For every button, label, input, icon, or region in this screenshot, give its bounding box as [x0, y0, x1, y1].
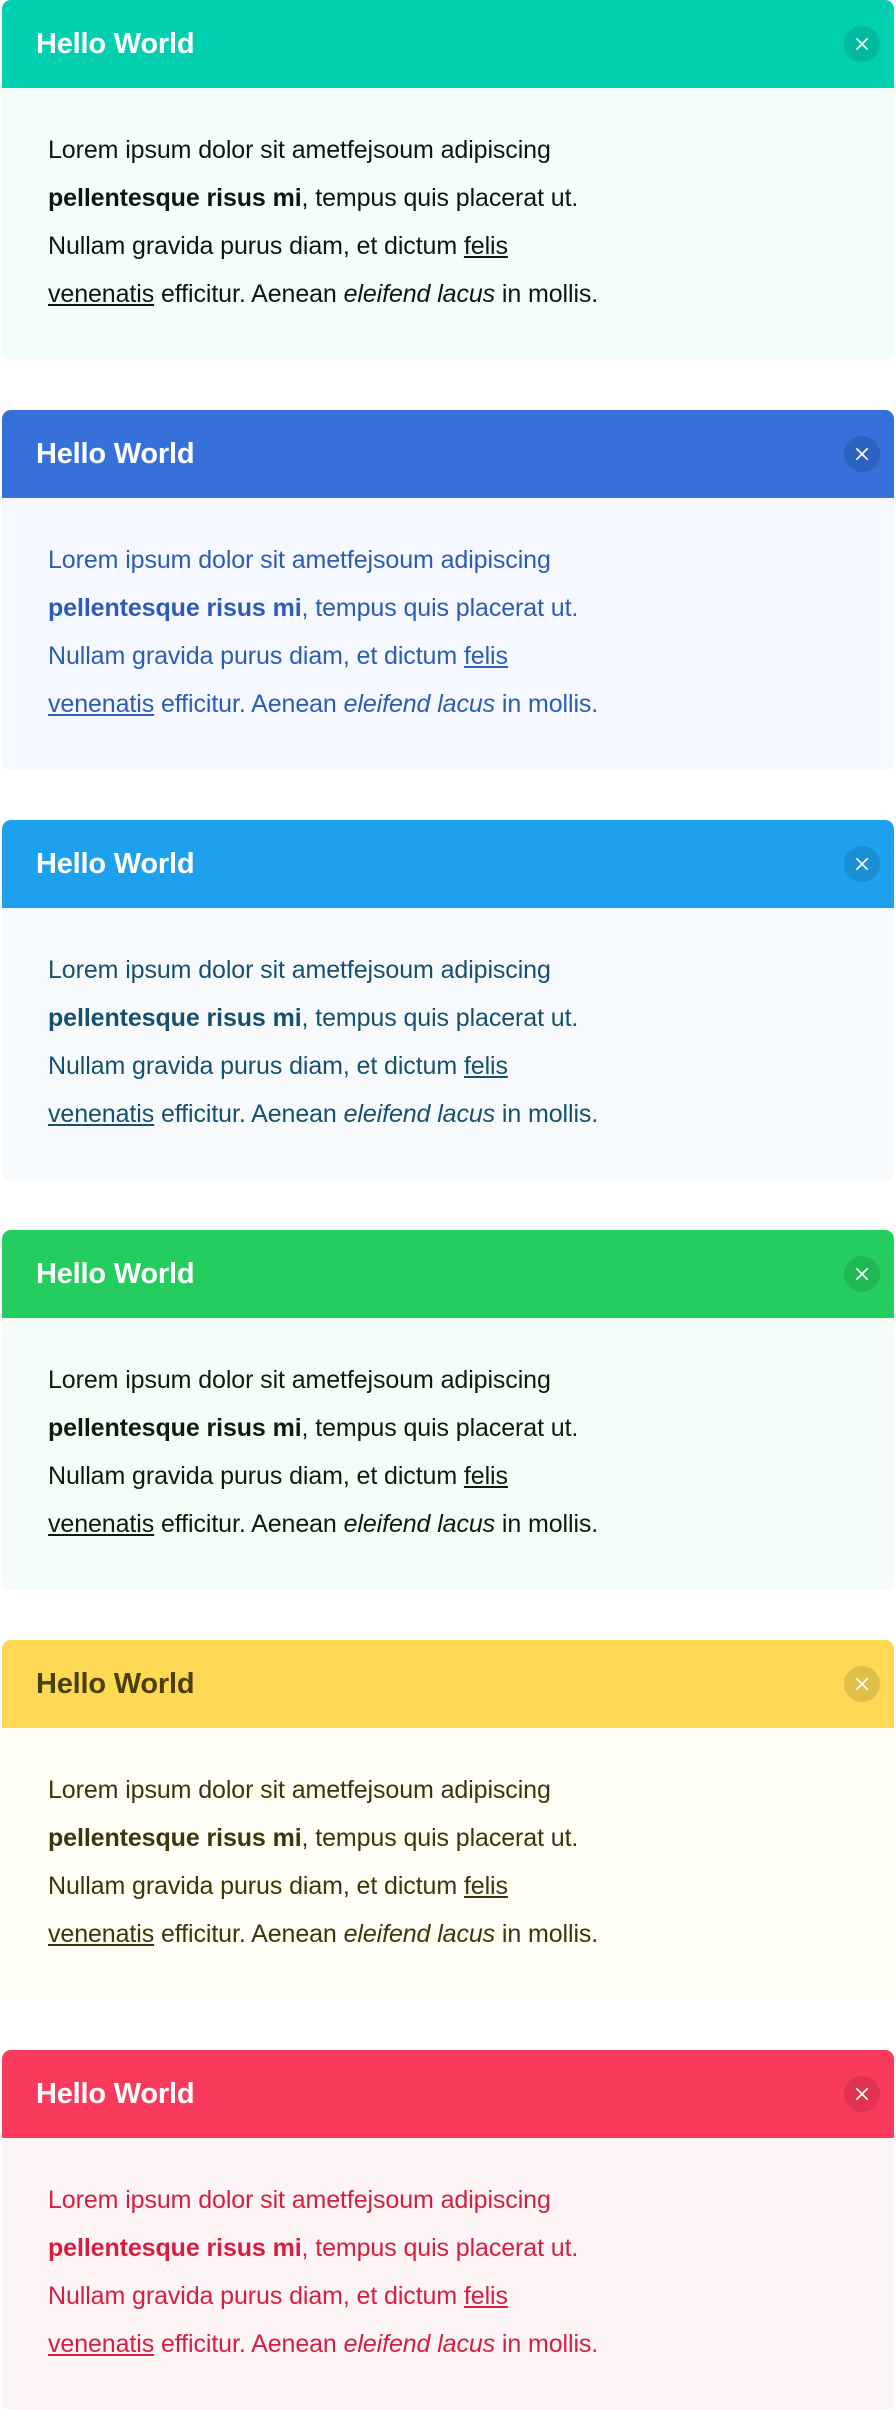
- close-icon: [853, 2085, 871, 2103]
- text-lead: Lorem ipsum dolor sit ametfejsoum adipis…: [48, 956, 551, 984]
- text-italic: eleifend lacus: [344, 1920, 495, 1948]
- close-button[interactable]: [844, 1666, 880, 1702]
- text-after-link: efficitur. Aenean: [154, 1510, 343, 1538]
- text-after-link: efficitur. Aenean: [154, 1920, 343, 1948]
- card-header: Hello World: [2, 1230, 894, 1318]
- text-after-link: efficitur. Aenean: [154, 1100, 343, 1128]
- close-icon: [853, 1675, 871, 1693]
- text-after-link: efficitur. Aenean: [154, 280, 343, 308]
- close-icon: [853, 35, 871, 53]
- close-button[interactable]: [844, 26, 880, 62]
- card-text: Lorem ipsum dolor sit ametfejsoum adipis…: [48, 1766, 608, 1958]
- text-bold: pellentesque risus mi: [48, 1414, 302, 1442]
- text-bold: pellentesque risus mi: [48, 594, 302, 622]
- text-after-link: efficitur. Aenean: [154, 2330, 343, 2358]
- alert-card: Hello WorldLorem ipsum dolor sit ametfej…: [2, 2050, 894, 2410]
- text-italic: eleifend lacus: [344, 1510, 495, 1538]
- text-tail: in mollis.: [495, 2330, 598, 2358]
- card-text: Lorem ipsum dolor sit ametfejsoum adipis…: [48, 946, 608, 1138]
- card-header: Hello World: [2, 820, 894, 908]
- alert-card: Hello WorldLorem ipsum dolor sit ametfej…: [2, 410, 894, 770]
- card-text: Lorem ipsum dolor sit ametfejsoum adipis…: [48, 126, 608, 318]
- card-text: Lorem ipsum dolor sit ametfejsoum adipis…: [48, 536, 608, 728]
- text-italic: eleifend lacus: [344, 1100, 495, 1128]
- text-lead: Lorem ipsum dolor sit ametfejsoum adipis…: [48, 546, 551, 574]
- card-header: Hello World: [2, 1640, 894, 1728]
- card-title: Hello World: [36, 1260, 876, 1289]
- card-body: Lorem ipsum dolor sit ametfejsoum adipis…: [2, 908, 894, 1180]
- text-bold: pellentesque risus mi: [48, 184, 302, 212]
- close-button[interactable]: [844, 846, 880, 882]
- text-lead: Lorem ipsum dolor sit ametfejsoum adipis…: [48, 2186, 551, 2214]
- text-lead: Lorem ipsum dolor sit ametfejsoum adipis…: [48, 136, 551, 164]
- text-italic: eleifend lacus: [344, 280, 495, 308]
- close-icon: [853, 855, 871, 873]
- close-button[interactable]: [844, 436, 880, 472]
- card-title: Hello World: [36, 30, 876, 59]
- text-tail: in mollis.: [495, 280, 598, 308]
- card-body: Lorem ipsum dolor sit ametfejsoum adipis…: [2, 2138, 894, 2410]
- close-button[interactable]: [844, 1256, 880, 1292]
- card-header: Hello World: [2, 2050, 894, 2138]
- card-body: Lorem ipsum dolor sit ametfejsoum adipis…: [2, 1728, 894, 2000]
- card-header: Hello World: [2, 410, 894, 498]
- card-title: Hello World: [36, 2080, 876, 2109]
- close-button[interactable]: [844, 2076, 880, 2112]
- alert-card: Hello WorldLorem ipsum dolor sit ametfej…: [2, 0, 894, 360]
- card-body: Lorem ipsum dolor sit ametfejsoum adipis…: [2, 88, 894, 360]
- card-title: Hello World: [36, 1670, 876, 1699]
- text-italic: eleifend lacus: [344, 690, 495, 718]
- text-lead: Lorem ipsum dolor sit ametfejsoum adipis…: [48, 1366, 551, 1394]
- text-bold: pellentesque risus mi: [48, 1004, 302, 1032]
- text-tail: in mollis.: [495, 1100, 598, 1128]
- text-bold: pellentesque risus mi: [48, 2234, 302, 2262]
- card-text: Lorem ipsum dolor sit ametfejsoum adipis…: [48, 2176, 608, 2368]
- text-lead: Lorem ipsum dolor sit ametfejsoum adipis…: [48, 1776, 551, 1804]
- card-body: Lorem ipsum dolor sit ametfejsoum adipis…: [2, 1318, 894, 1590]
- alert-card: Hello WorldLorem ipsum dolor sit ametfej…: [2, 1640, 894, 2000]
- text-tail: in mollis.: [495, 1920, 598, 1948]
- text-tail: in mollis.: [495, 1510, 598, 1538]
- text-bold: pellentesque risus mi: [48, 1824, 302, 1852]
- alert-card: Hello WorldLorem ipsum dolor sit ametfej…: [2, 1230, 894, 1590]
- text-italic: eleifend lacus: [344, 2330, 495, 2358]
- alert-card: Hello WorldLorem ipsum dolor sit ametfej…: [2, 820, 894, 1180]
- alert-card-list: Hello WorldLorem ipsum dolor sit ametfej…: [0, 0, 896, 2410]
- text-after-link: efficitur. Aenean: [154, 690, 343, 718]
- card-text: Lorem ipsum dolor sit ametfejsoum adipis…: [48, 1356, 608, 1548]
- card-title: Hello World: [36, 440, 876, 469]
- close-icon: [853, 1265, 871, 1283]
- close-icon: [853, 445, 871, 463]
- card-title: Hello World: [36, 850, 876, 879]
- card-body: Lorem ipsum dolor sit ametfejsoum adipis…: [2, 498, 894, 770]
- card-header: Hello World: [2, 0, 894, 88]
- text-tail: in mollis.: [495, 690, 598, 718]
